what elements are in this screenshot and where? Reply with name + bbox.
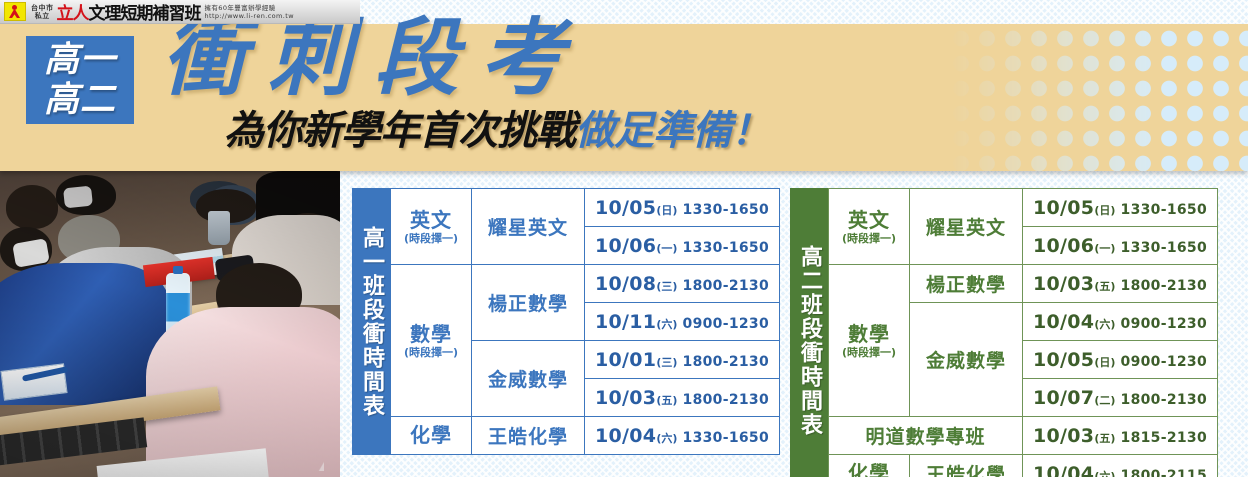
subheadline: 為你新學年首次挑戰做足準備！ [224,106,770,156]
page-title: 衝刺段考 [162,12,586,104]
schedule-weekday: (二) [1094,394,1115,407]
schedule-time-cell: 10/03(五) 1800-2130 [585,379,780,417]
schedule-time-cell: 10/03(五) 1800-2130 [1023,265,1218,303]
schedule-time-cell: 10/04(六) 0900-1230 [1023,303,1218,341]
schedule-row: 英文(時段擇一)耀星英文10/05(日) 1330-1650 [391,189,780,227]
subject-note: (時段擇一) [833,346,905,359]
schedule-teacher-cell: 金威數學 [472,341,585,417]
schedule-weekday: (五) [1094,432,1115,445]
schedule-date: 10/04 [1033,311,1094,333]
schedule-date: 10/05 [595,197,656,219]
promo-poster: 台中市 私立 立人 文理短期補習班 擁有60年豐富辦學經驗 http://www… [0,0,1248,477]
school-tagline-block: 擁有60年豐富辦學經驗 http://www.li-ren.com.tw [205,4,294,20]
schedule-subject-cell: 化學 [829,455,910,477]
schedule-time-span: 0900-1230 [1115,316,1207,332]
schedule-weekday: (三) [656,356,677,369]
schedule-teacher-cell: 明道數學專班 [829,417,1023,455]
schedule-time-cell: 10/04(六) 1330-1650 [585,417,780,455]
schedule-date: 10/08 [595,273,656,295]
schedule-time-cell: 10/11(六) 0900-1230 [585,303,780,341]
schedule-weekday: (六) [656,432,677,445]
schedule-grid-grade-1: 英文(時段擇一)耀星英文10/05(日) 1330-165010/06(一) 1… [390,188,780,455]
schedule-time-span: 1800-2130 [677,392,769,408]
brand-name-red: 立人 [57,0,89,24]
schedule-time-span: 0900-1230 [677,316,769,332]
school-type: 私立 [31,12,54,20]
schedule-weekday: (日) [1094,356,1115,369]
schedule-time-span: 0900-1230 [1115,354,1207,370]
schedule-time-cell: 10/05(日) 1330-1650 [1023,189,1218,227]
school-city: 台中市 [31,4,54,12]
schedule-date: 10/11 [595,311,656,333]
schedule-time-cell: 10/05(日) 1330-1650 [585,189,780,227]
photo-face-mask [63,186,93,209]
subject-name: 數學 [833,323,905,346]
schedule-title-grade-2: 高二班段衝時間表 [790,188,828,477]
schedule-row: 化學王皓化學10/04(六) 1330-1650 [391,417,780,455]
schedule-teacher-cell: 王皓化學 [472,417,585,455]
schedule-weekday: (一) [656,242,677,255]
schedule-date: 10/07 [1033,387,1094,409]
schedule-time-cell: 10/05(日) 0900-1230 [1023,341,1218,379]
schedule-date: 10/05 [1033,349,1094,371]
photo-cup [208,211,230,245]
subject-name: 英文 [833,209,905,232]
schedule-time-cell: 10/07(二) 1800-2130 [1023,379,1218,417]
school-url[interactable]: http://www.li-ren.com.tw [205,12,294,20]
schedule-teacher-cell: 金威數學 [910,303,1023,417]
schedule-row: 數學(時段擇一)楊正數學10/03(五) 1800-2130 [829,265,1218,303]
subheadline-black-part: 為你新學年首次挑戰 [224,108,575,154]
schedule-weekday: (五) [1094,280,1115,293]
schedule-time-cell: 10/06(一) 1330-1650 [1023,227,1218,265]
subject-name: 化學 [833,462,905,477]
schedule-weekday: (六) [656,318,677,331]
school-city-block: 台中市 私立 [31,4,54,20]
schedule-time-span: 1800-2115 [1115,468,1207,477]
subject-note: (時段擇一) [833,232,905,245]
schedule-weekday: (日) [656,204,677,217]
schedule-teacher-cell: 耀星英文 [910,189,1023,265]
schedule-weekday: (六) [1094,318,1115,331]
schedule-time-cell: 10/04(六) 1800-2115 [1023,455,1218,477]
school-mark-icon [4,2,26,21]
subject-note: (時段擇一) [395,232,467,245]
schedule-time-span: 1800-2130 [677,354,769,370]
schedule-weekday: (三) [656,280,677,293]
schedule-table-grade-1: 高一班段衝時間表 英文(時段擇一)耀星英文10/05(日) 1330-16501… [352,188,780,455]
halftone-dots-decoration [948,24,1248,171]
schedule-time-span: 1800-2130 [1115,278,1207,294]
schedule-time-cell: 10/01(三) 1800-2130 [585,341,780,379]
schedule-time-span: 1330-1650 [1115,202,1207,218]
photo-student-head [6,185,58,229]
subject-name: 英文 [395,209,467,232]
schedule-time-span: 1330-1650 [677,240,769,256]
schedule-weekday: (一) [1094,242,1115,255]
schedule-time-cell: 10/03(五) 1815-2130 [1023,417,1218,455]
schedule-time-span: 1330-1650 [677,430,769,446]
schedule-subject-cell: 數學(時段擇一) [829,265,910,417]
schedule-row: 英文(時段擇一)耀星英文10/05(日) 1330-1650 [829,189,1218,227]
grade-badge-line-2: 高二 [44,80,116,120]
schedule-time-cell: 10/08(三) 1800-2130 [585,265,780,303]
schedule-subject-cell: 英文(時段擇一) [829,189,910,265]
schedule-row: 化學王皓化學10/04(六) 1800-2115 [829,455,1218,477]
schedule-title-grade-1: 高一班段衝時間表 [352,188,390,455]
schedule-time-cell: 10/06(一) 1330-1650 [585,227,780,265]
schedule-subject-cell: 數學(時段擇一) [391,265,472,417]
schedule-subject-cell: 化學 [391,417,472,455]
schedule-row: 數學(時段擇一)楊正數學10/08(三) 1800-2130 [391,265,780,303]
school-tagline: 擁有60年豐富辦學經驗 [205,4,294,12]
schedule-date: 10/06 [595,235,656,257]
classroom-photo [0,171,340,477]
schedule-date: 10/03 [595,387,656,409]
schedule-weekday: (六) [1094,470,1115,477]
schedule-date: 10/06 [1033,235,1094,257]
schedule-row: 明道數學專班10/03(五) 1815-2130 [829,417,1218,455]
schedule-time-span: 1815-2130 [1115,430,1207,446]
schedule-date: 10/01 [595,349,656,371]
brand-name-black: 文理短期補習班 [89,0,201,24]
subheadline-blue-part: 做足準備！ [575,108,770,154]
subject-name: 數學 [395,323,467,346]
schedule-date: 10/04 [595,425,656,447]
schedule-time-span: 1330-1650 [1115,240,1207,256]
grade-badge-line-1: 高一 [44,40,116,80]
schedule-weekday: (日) [1094,204,1115,217]
schedule-weekday: (五) [656,394,677,407]
schedule-grid-grade-2: 英文(時段擇一)耀星英文10/05(日) 1330-165010/06(一) 1… [828,188,1218,477]
school-identity-bar: 台中市 私立 立人 文理短期補習班 擁有60年豐富辦學經驗 http://www… [0,0,360,24]
schedule-date: 10/05 [1033,197,1094,219]
schedule-teacher-cell: 楊正數學 [472,265,585,341]
schedule-table-grade-2: 高二班段衝時間表 英文(時段擇一)耀星英文10/05(日) 1330-16501… [790,188,1218,477]
schedule-teacher-cell: 耀星英文 [472,189,585,265]
schedule-subject-cell: 英文(時段擇一) [391,189,472,265]
schedule-date: 10/03 [1033,273,1094,295]
schedule-teacher-cell: 楊正數學 [910,265,1023,303]
schedule-date: 10/04 [1033,463,1094,477]
schedule-teacher-cell: 王皓化學 [910,455,1023,477]
subject-name: 化學 [395,424,467,447]
schedule-time-span: 1330-1650 [677,202,769,218]
schedule-time-span: 1800-2130 [677,278,769,294]
subject-note: (時段擇一) [395,346,467,359]
schedule-time-span: 1800-2130 [1115,392,1207,408]
grade-badge: 高一 高二 [24,34,136,126]
schedule-date: 10/03 [1033,425,1094,447]
